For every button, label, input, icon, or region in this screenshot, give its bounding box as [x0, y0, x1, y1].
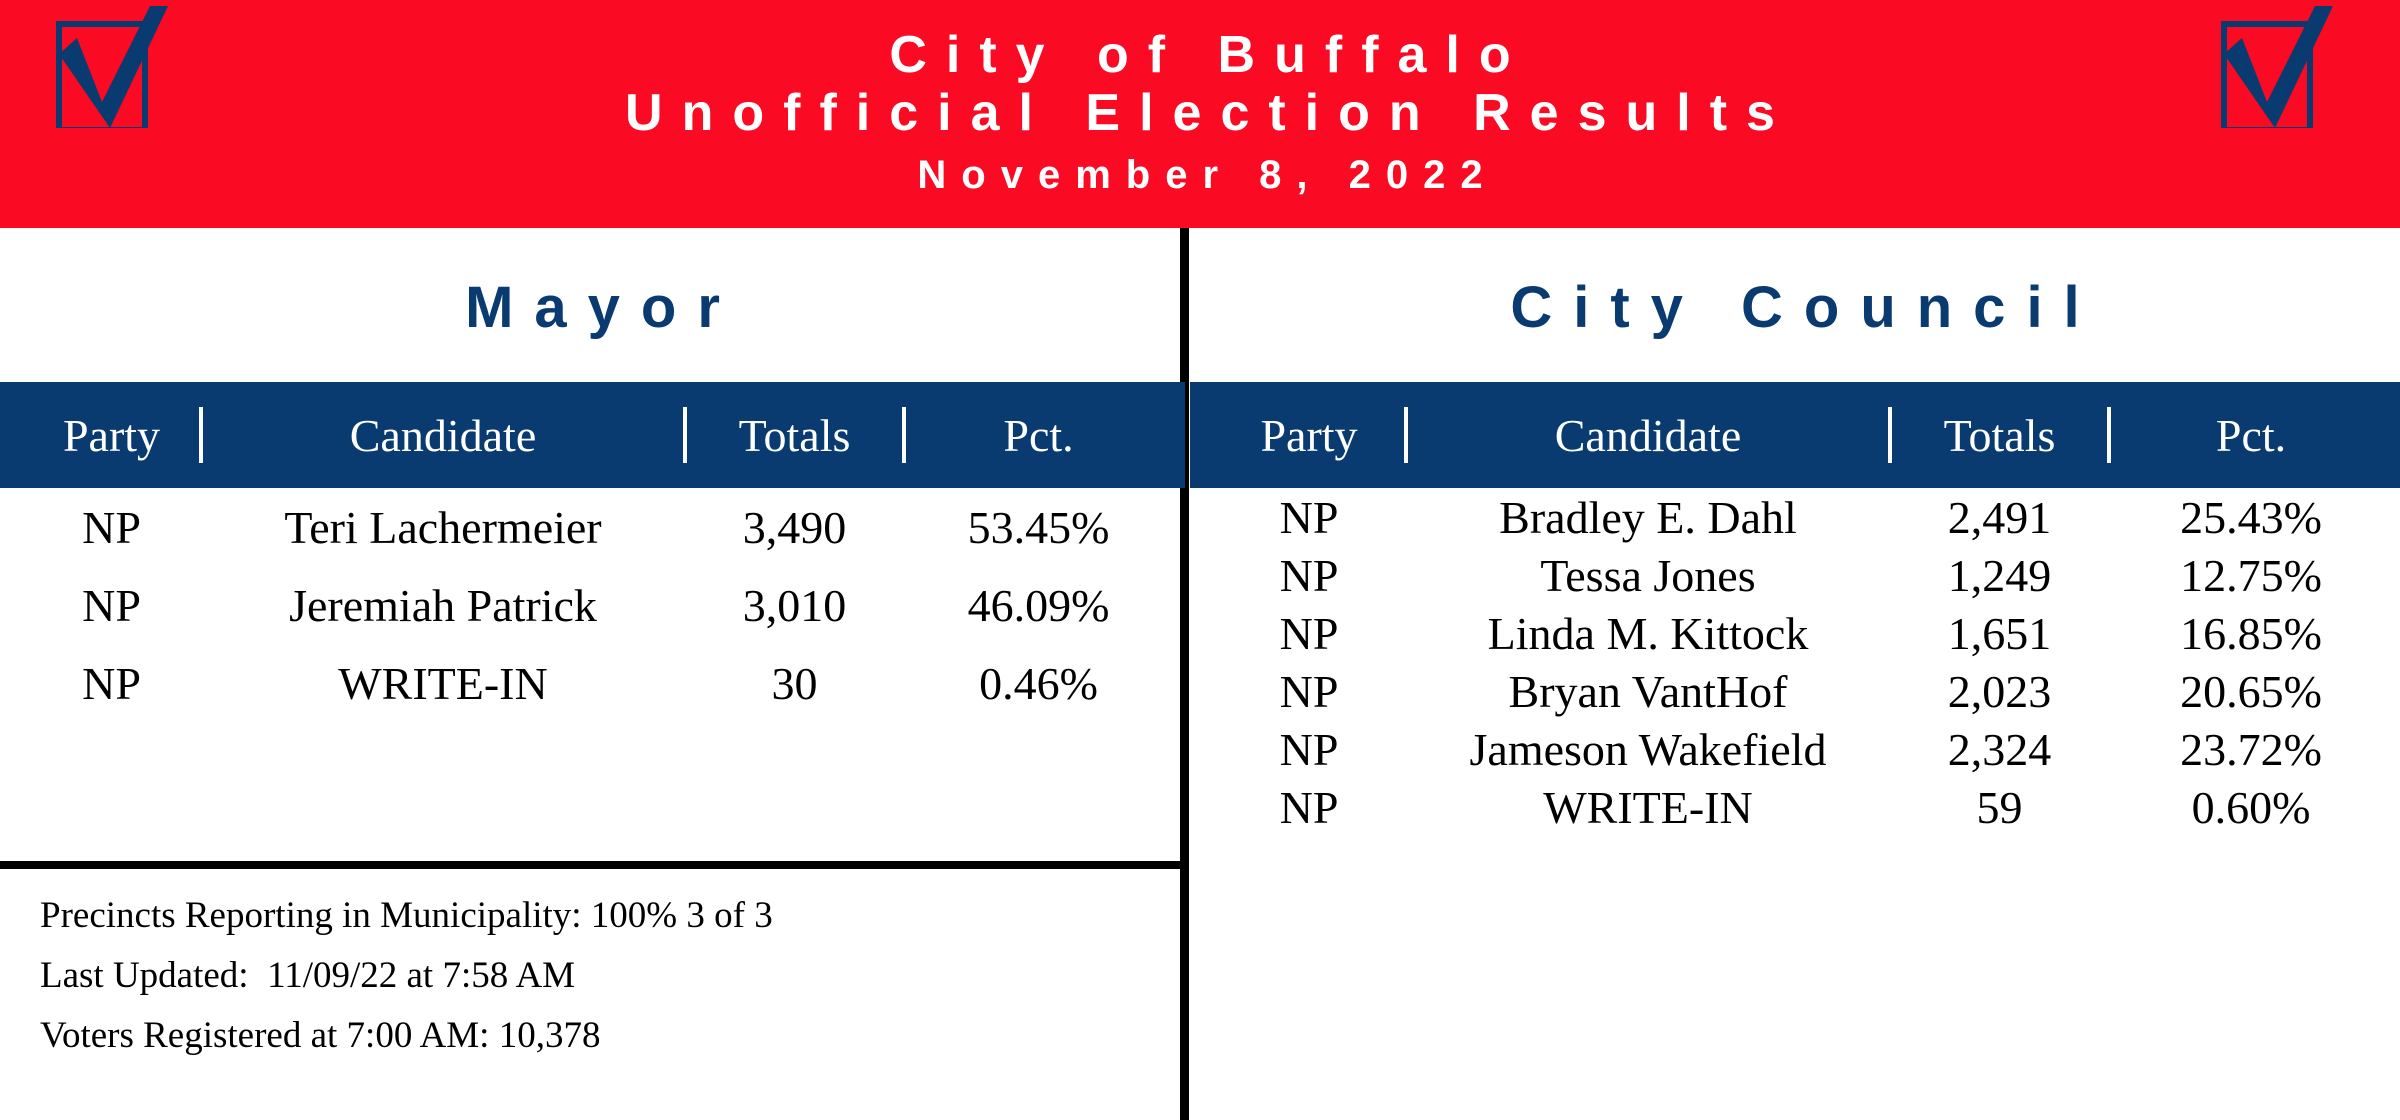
table-row: NP WRITE-IN 30 0.46% — [0, 644, 1185, 722]
page-banner: City of Buffalo Unofficial Election Resu… — [0, 0, 2400, 228]
precincts-reporting-note: Precincts Reporting in Municipality: 100… — [40, 885, 1180, 945]
mayor-results-table: NP Teri Lachermeier 3,490 53.45% NP Jere… — [0, 488, 1185, 722]
council-column-totals: Totals — [1892, 382, 2107, 488]
row-candidate: Jeremiah Patrick — [203, 566, 683, 644]
spacer — [0, 382, 24, 488]
mayor-column-totals: Totals — [687, 382, 902, 488]
spacer — [0, 566, 24, 644]
mayor-table-bottom-rule — [0, 861, 1181, 869]
last-updated-note: Last Updated: 11/09/22 at 7:58 AM — [40, 945, 1180, 1005]
row-candidate: WRITE-IN — [203, 644, 683, 722]
row-pct: 25.43% — [2111, 488, 2391, 546]
table-row: NP Bradley E. Dahl 2,491 25.43% — [1190, 488, 2400, 546]
spacer — [1190, 382, 1214, 488]
row-pct: 16.85% — [2111, 604, 2391, 662]
ballot-checkmark-icon — [50, 6, 180, 128]
row-candidate: Bryan VantHof — [1408, 662, 1888, 720]
voters-registered-note: Voters Registered at 7:00 AM: 10,378 — [40, 1005, 1180, 1065]
row-candidate: WRITE-IN — [1408, 778, 1888, 836]
spacer — [1190, 604, 1214, 662]
row-totals: 2,491 — [1892, 488, 2107, 546]
row-party: NP — [24, 566, 199, 644]
table-row: NP Linda M. Kittock 1,651 16.85% — [1190, 604, 2400, 662]
row-pct: 20.65% — [2111, 662, 2391, 720]
banner-city-title: City of Buffalo — [870, 26, 1529, 84]
row-candidate: Jameson Wakefield — [1408, 720, 1888, 778]
mayor-column-candidate: Candidate — [203, 382, 683, 488]
table-row: NP Jeremiah Patrick 3,010 46.09% — [0, 566, 1185, 644]
row-party: NP — [24, 644, 199, 722]
spacer — [1190, 546, 1214, 604]
council-column-pct: Pct. — [2111, 382, 2391, 488]
row-pct: 53.45% — [906, 488, 1171, 566]
row-candidate: Linda M. Kittock — [1408, 604, 1888, 662]
row-candidate: Bradley E. Dahl — [1408, 488, 1888, 546]
row-totals: 1,651 — [1892, 604, 2107, 662]
mayor-column-party: Party — [24, 382, 199, 488]
row-party: NP — [1214, 488, 1404, 546]
ballot-checkmark-icon — [2215, 6, 2345, 128]
row-pct: 23.72% — [2111, 720, 2391, 778]
row-party: NP — [1214, 720, 1404, 778]
spacer — [1190, 720, 1214, 778]
row-totals: 2,324 — [1892, 720, 2107, 778]
row-totals: 3,490 — [687, 488, 902, 566]
row-pct: 46.09% — [906, 566, 1171, 644]
council-results-table: NP Bradley E. Dahl 2,491 25.43% NP Tessa… — [1190, 488, 2400, 836]
spacer — [1190, 662, 1214, 720]
row-totals: 1,249 — [1892, 546, 2107, 604]
row-pct: 0.60% — [2111, 778, 2391, 836]
mayor-section-title: Mayor — [0, 252, 1185, 362]
spacer — [0, 488, 24, 566]
row-totals: 59 — [1892, 778, 2107, 836]
row-pct: 12.75% — [2111, 546, 2391, 604]
row-totals: 2,023 — [1892, 662, 2107, 720]
row-candidate: Tessa Jones — [1408, 546, 1888, 604]
table-row: NP Bryan VantHof 2,023 20.65% — [1190, 662, 2400, 720]
table-row: NP WRITE-IN 59 0.60% — [1190, 778, 2400, 836]
row-party: NP — [1214, 778, 1404, 836]
row-totals: 3,010 — [687, 566, 902, 644]
spacer — [1190, 488, 1214, 546]
row-candidate: Teri Lachermeier — [203, 488, 683, 566]
council-section-title: City Council — [1190, 252, 2400, 362]
spacer — [0, 644, 24, 722]
council-column-party: Party — [1214, 382, 1404, 488]
spacer — [1190, 778, 1214, 836]
council-table-header: Party Candidate Totals Pct. — [1190, 382, 2400, 488]
banner-election-date: November 8, 2022 — [902, 148, 1497, 202]
banner-results-title: Unofficial Election Results — [606, 84, 1794, 142]
row-totals: 30 — [687, 644, 902, 722]
table-row: NP Teri Lachermeier 3,490 53.45% — [0, 488, 1185, 566]
council-column-candidate: Candidate — [1408, 382, 1888, 488]
table-row: NP Jameson Wakefield 2,324 23.72% — [1190, 720, 2400, 778]
row-pct: 0.46% — [906, 644, 1171, 722]
table-row: NP Tessa Jones 1,249 12.75% — [1190, 546, 2400, 604]
row-party: NP — [1214, 604, 1404, 662]
banner-title-group: City of Buffalo Unofficial Election Resu… — [0, 0, 2400, 228]
mayor-footer-notes: Precincts Reporting in Municipality: 100… — [0, 885, 1180, 1065]
row-party: NP — [24, 488, 199, 566]
mayor-column-pct: Pct. — [906, 382, 1171, 488]
mayor-table-header: Party Candidate Totals Pct. — [0, 382, 1185, 488]
row-party: NP — [1214, 662, 1404, 720]
row-party: NP — [1214, 546, 1404, 604]
